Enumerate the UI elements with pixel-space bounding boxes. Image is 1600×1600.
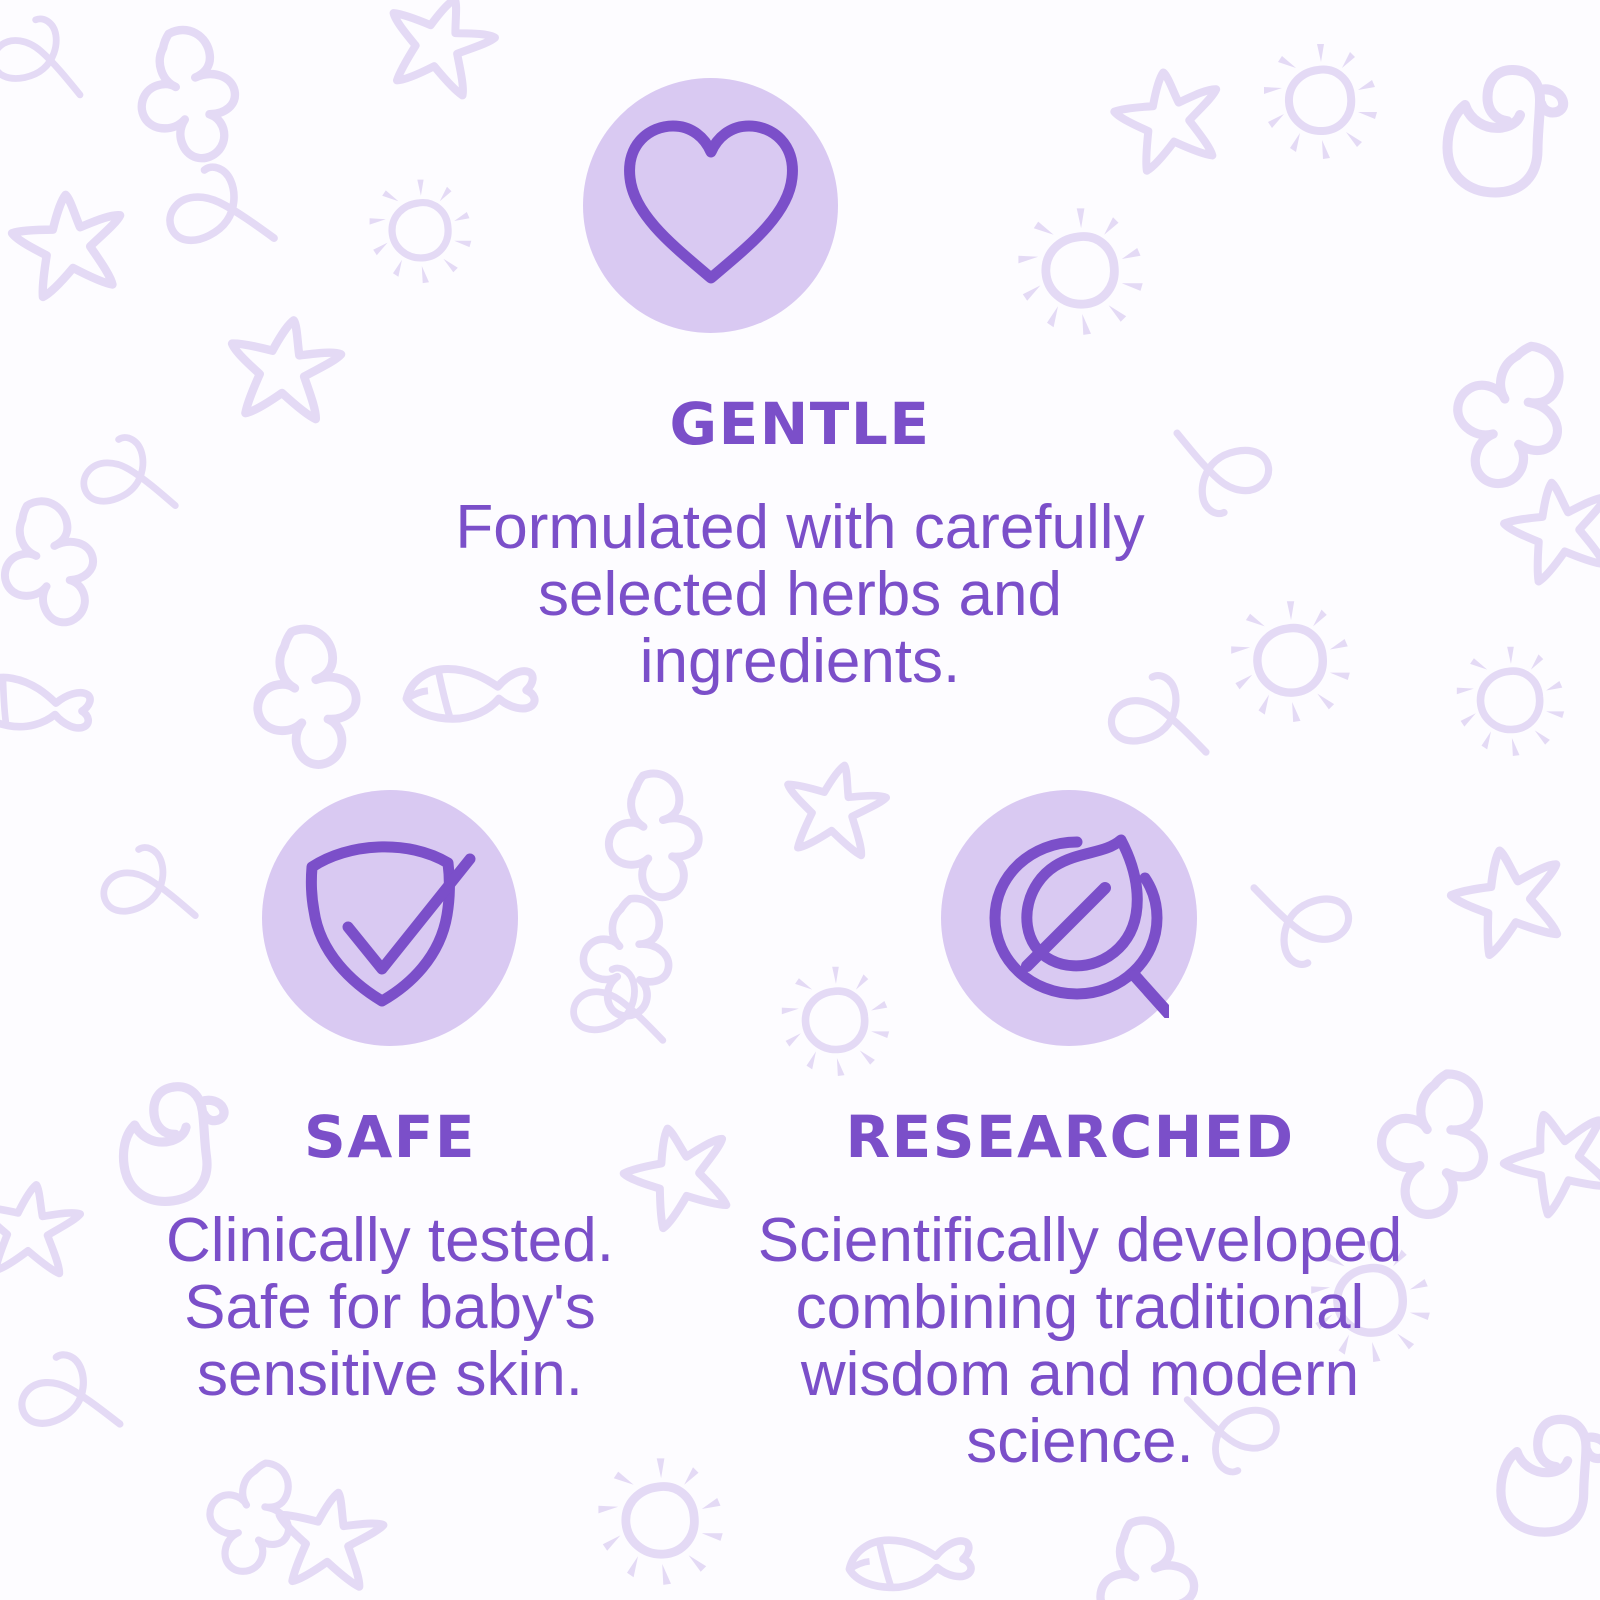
feature-body-gentle: Formulated with carefully selected herbs… bbox=[300, 495, 1300, 696]
feature-icon-badge-gentle bbox=[583, 78, 838, 333]
feature-body-safe: Clinically tested. Safe for baby's sensi… bbox=[100, 1208, 680, 1409]
feature-body-researched: Scientifically developed combining tradi… bbox=[690, 1208, 1470, 1476]
promo-graphic: GENTLE Formulated with carefully selecte… bbox=[0, 0, 1600, 1600]
feature-title-researched: RESEARCHED bbox=[760, 1108, 1380, 1166]
leaf-magnifier-icon bbox=[969, 818, 1169, 1018]
feature-title-gentle: GENTLE bbox=[0, 395, 1600, 453]
feature-title-safe: SAFE bbox=[130, 1108, 650, 1166]
feature-icon-badge-safe bbox=[262, 790, 518, 1046]
heart-icon bbox=[616, 116, 806, 296]
feature-icon-badge-researched bbox=[941, 790, 1197, 1046]
shield-check-icon bbox=[290, 823, 490, 1013]
